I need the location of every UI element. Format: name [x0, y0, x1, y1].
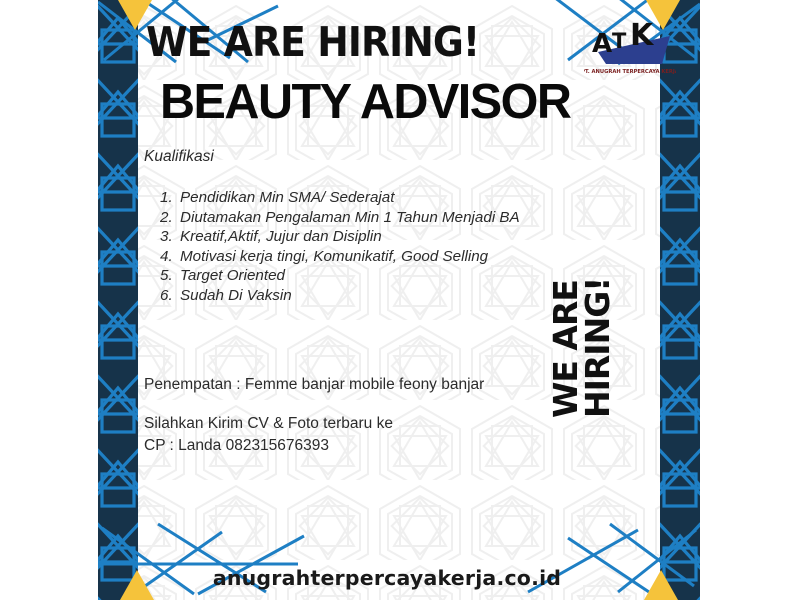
logo-tagline: PT. ANUGRAH TERPERCAYA KERJA [584, 69, 676, 75]
list-item-label: Diutamakan Pengalaman Min 1 Tahun Menjad… [180, 209, 520, 226]
list-item-number: 6. [160, 286, 180, 306]
screenshot-canvas: WE ARE HIRING! BEAUTY ADVISOR A T K PT. … [0, 0, 800, 600]
placement-text: Penempatan : Femme banjar mobile feony b… [144, 376, 484, 394]
headline-vertical-we-are-hiring: WE ARE HIRING! [550, 243, 613, 418]
job-poster: WE ARE HIRING! BEAUTY ADVISOR A T K PT. … [98, 0, 700, 600]
svg-text:A: A [592, 29, 612, 59]
send-cv-instruction: Silahkan Kirim CV & Foto terbaru ke [144, 415, 393, 433]
list-item-number: 2. [160, 208, 180, 228]
list-item-number: 4. [160, 247, 180, 267]
list-item-label: Pendidikan Min SMA/ Sederajat [180, 189, 394, 206]
poster-content: WE ARE HIRING! BEAUTY ADVISOR A T K PT. … [98, 0, 700, 600]
company-logo: A T K PT. ANUGRAH TERPERCAYA KERJA [584, 18, 676, 76]
list-item-number: 1. [160, 188, 180, 208]
qualifications-heading: Kualifikasi [144, 148, 214, 166]
list-item-label: Kreatif,Aktif, Jujur dan Disiplin [180, 228, 382, 245]
list-item-label: Motivasi kerja tingi, Komunikatif, Good … [180, 248, 488, 265]
list-item-number: 3. [160, 227, 180, 247]
list-item-label: Sudah Di Vaksin [180, 287, 292, 304]
list-item-number: 5. [160, 266, 180, 286]
list-item-label: Target Oriented [180, 267, 285, 284]
headline-we-are-hiring: WE ARE HIRING! [146, 22, 479, 63]
list-item: 2.Diutamakan Pengalaman Min 1 Tahun Menj… [160, 208, 630, 228]
svg-text:T: T [612, 29, 627, 53]
contact-person: CP : Landa 082315676393 [144, 437, 329, 455]
svg-text:K: K [630, 18, 655, 53]
page-title: BEAUTY ADVISOR [160, 78, 570, 127]
website-url: anugrahterpercayakerja.co.id [98, 566, 700, 590]
list-item: 1.Pendidikan Min SMA/ Sederajat [160, 188, 630, 208]
